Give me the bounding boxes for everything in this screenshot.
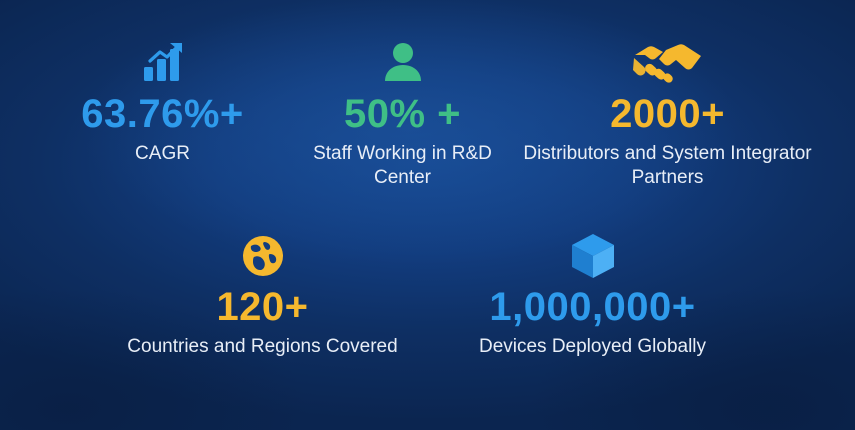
handshake-icon	[632, 38, 704, 88]
stat-label: Staff Working in R&D Center	[288, 142, 518, 190]
globe-earth-icon	[240, 231, 286, 281]
stat-distributors: 2000+ Distributors and System Integrator…	[518, 38, 818, 189]
stat-label: Countries and Regions Covered	[127, 335, 397, 359]
stats-content: 63.76%+ CAGR 50% + Staff Working in R&D …	[0, 0, 855, 430]
stats-row-top: 63.76%+ CAGR 50% + Staff Working in R&D …	[22, 38, 833, 189]
stat-label: Devices Deployed Globally	[479, 335, 706, 359]
stat-value: 1,000,000+	[489, 287, 695, 328]
stat-value: 50% +	[344, 94, 461, 135]
person-user-icon	[382, 38, 424, 88]
stat-devices: 1,000,000+ Devices Deployed Globally	[428, 231, 758, 359]
infographic-stage: 63.76%+ CAGR 50% + Staff Working in R&D …	[0, 0, 855, 430]
stat-label: Distributors and System Integrator Partn…	[518, 142, 818, 190]
stat-staff-rd: 50% + Staff Working in R&D Center	[288, 38, 518, 189]
stat-countries: 120+ Countries and Regions Covered	[98, 231, 428, 359]
stat-value: 120+	[216, 287, 308, 328]
cube-box-icon	[568, 231, 618, 281]
bar-chart-growth-icon	[140, 38, 186, 88]
stat-value: 63.76%+	[81, 94, 244, 135]
stat-label: CAGR	[135, 142, 190, 166]
stat-cagr: 63.76%+ CAGR	[38, 38, 288, 166]
stats-row-bottom: 120+ Countries and Regions Covered 1,000…	[22, 231, 833, 359]
stat-value: 2000+	[610, 94, 725, 135]
